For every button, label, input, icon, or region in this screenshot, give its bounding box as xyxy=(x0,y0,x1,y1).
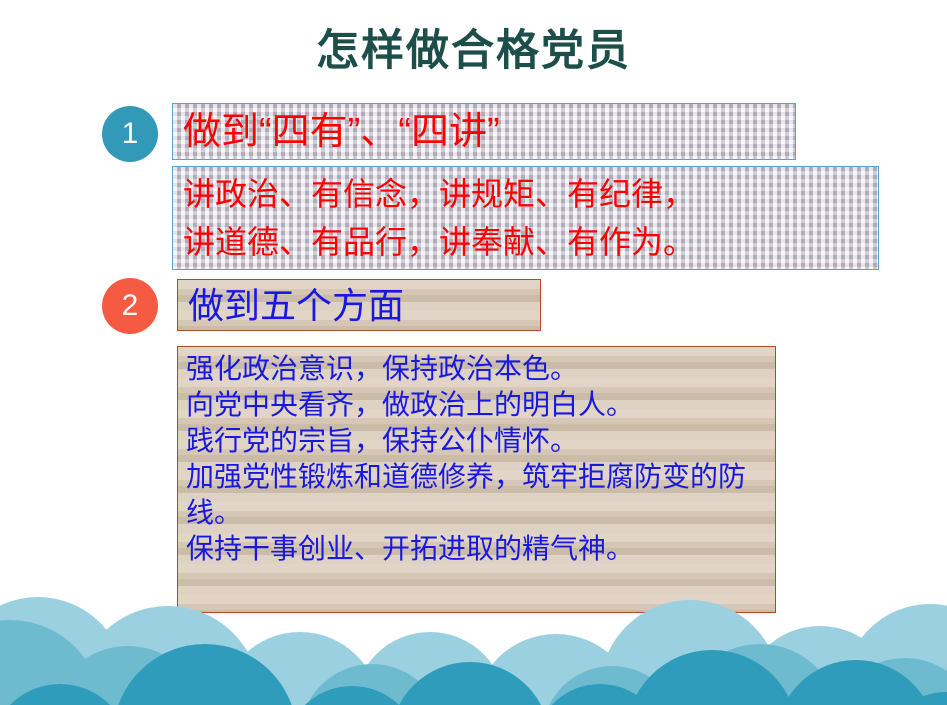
section-2-line-4: 加强党性锻炼和道德修养，筑牢拒腐防变的防线。 xyxy=(186,459,768,531)
section-2-header-text: 做到五个方面 xyxy=(188,282,404,329)
section-2-line-1: 强化政治意识，保持政治本色。 xyxy=(186,351,768,387)
section-1-body-box: 讲政治、有信念，讲规矩、有纪律， 讲道德、有品行，讲奉献、有作为。 xyxy=(172,166,879,270)
section-1-header-box: 做到“四有”、“四讲” xyxy=(172,103,796,160)
cloud-layer-mid xyxy=(0,620,947,705)
section-2-line-2: 向党中央看齐，做政治上的明白人。 xyxy=(186,387,768,423)
slide-canvas: 怎样做合格党员 1 做到“四有”、“四讲” 讲政治、有信念，讲规矩、有纪律， 讲… xyxy=(0,0,947,705)
section-1-line-1: 讲政治、有信念，讲规矩、有纪律， xyxy=(183,170,695,218)
section-badge-2: 2 xyxy=(102,278,158,334)
section-1-body-lines: 讲政治、有信念，讲规矩、有纪律， 讲道德、有品行，讲奉献、有作为。 xyxy=(183,170,695,266)
section-1-line-2: 讲道德、有品行，讲奉献、有作为。 xyxy=(183,218,695,266)
section-2-line-3: 践行党的宗旨，保持公仆情怀。 xyxy=(186,423,768,459)
cloud-layer-light xyxy=(0,597,947,705)
cloud-layer-dark xyxy=(0,644,947,705)
section-2-header-box: 做到五个方面 xyxy=(177,279,541,331)
section-2-body-box: 强化政治意识，保持政治本色。 向党中央看齐，做政治上的明白人。 践行党的宗旨，保… xyxy=(177,346,776,613)
page-title: 怎样做合格党员 xyxy=(0,27,947,76)
section-2-body-lines: 强化政治意识，保持政治本色。 向党中央看齐，做政治上的明白人。 践行党的宗旨，保… xyxy=(186,351,768,567)
section-2-line-5: 保持干事创业、开拓进取的精气神。 xyxy=(186,531,768,567)
section-badge-1: 1 xyxy=(102,106,158,162)
section-1-header-text: 做到“四有”、“四讲” xyxy=(183,108,500,156)
